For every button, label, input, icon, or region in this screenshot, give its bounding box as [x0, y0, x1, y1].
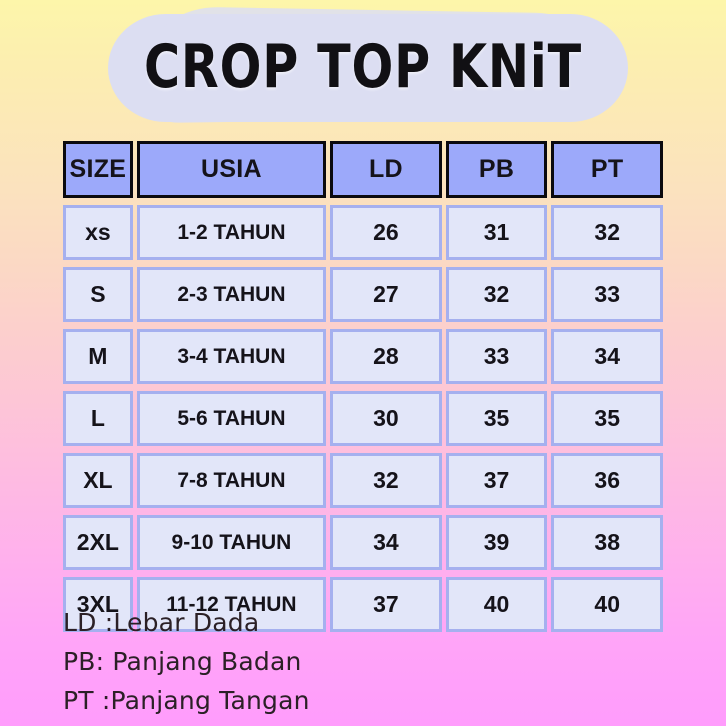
cell-size: xs [63, 205, 133, 260]
cell-pb: 35 [446, 391, 548, 446]
table-row: L 5-6 TAHUN 30 35 35 [63, 391, 663, 446]
cell-size: XL [63, 453, 133, 508]
cell-pt: 34 [551, 329, 663, 384]
table-row: S 2-3 TAHUN 27 32 33 [63, 267, 663, 322]
cell-size: M [63, 329, 133, 384]
cell-pt: 38 [551, 515, 663, 570]
cell-ld: 34 [330, 515, 442, 570]
cell-usia: 1-2 TAHUN [137, 205, 326, 260]
legend-line-ld: LD :Lebar Dada [63, 603, 563, 642]
cell-pt: 32 [551, 205, 663, 260]
table-row: XL 7-8 TAHUN 32 37 36 [63, 453, 663, 508]
table-row: M 3-4 TAHUN 28 33 34 [63, 329, 663, 384]
table-row: xs 1-2 TAHUN 26 31 32 [63, 205, 663, 260]
page-title: CROP TOP KNiT [65, 24, 660, 110]
cell-usia: 9-10 TAHUN [137, 515, 326, 570]
cell-ld: 30 [330, 391, 442, 446]
table-header-row: SIZE USIA LD PB PT [63, 141, 663, 198]
cell-pt: 36 [551, 453, 663, 508]
cell-usia: 7-8 TAHUN [137, 453, 326, 508]
cell-pt: 35 [551, 391, 663, 446]
legend-line-pt: PT :Panjang Tangan [63, 681, 563, 720]
size-chart-poster: CROP TOP KNiT SIZE USIA LD PB PT xs 1-2 … [0, 0, 726, 726]
size-table: SIZE USIA LD PB PT xs 1-2 TAHUN 26 31 32… [63, 141, 663, 632]
title-banner: CROP TOP KNiT [0, 0, 726, 136]
cell-pb: 37 [446, 453, 548, 508]
cell-ld: 28 [330, 329, 442, 384]
cell-pt: 40 [551, 577, 663, 632]
cell-pb: 39 [446, 515, 548, 570]
cell-pb: 31 [446, 205, 548, 260]
table-row: 2XL 9-10 TAHUN 34 39 38 [63, 515, 663, 570]
cell-usia: 5-6 TAHUN [137, 391, 326, 446]
cell-ld: 32 [330, 453, 442, 508]
cell-pb: 33 [446, 329, 548, 384]
cell-pb: 32 [446, 267, 548, 322]
cell-size: 2XL [63, 515, 133, 570]
cell-ld: 27 [330, 267, 442, 322]
column-header-pb: PB [446, 141, 548, 198]
column-header-size: SIZE [63, 141, 133, 198]
cell-pt: 33 [551, 267, 663, 322]
legend: LD :Lebar Dada PB: Panjang Badan PT :Pan… [63, 603, 563, 720]
column-header-usia: USIA [137, 141, 326, 198]
cell-size: L [63, 391, 133, 446]
cell-ld: 26 [330, 205, 442, 260]
column-header-pt: PT [551, 141, 663, 198]
cell-usia: 3-4 TAHUN [137, 329, 326, 384]
cell-usia: 2-3 TAHUN [137, 267, 326, 322]
column-header-ld: LD [330, 141, 442, 198]
legend-line-pb: PB: Panjang Badan [63, 642, 563, 681]
cell-size: S [63, 267, 133, 322]
